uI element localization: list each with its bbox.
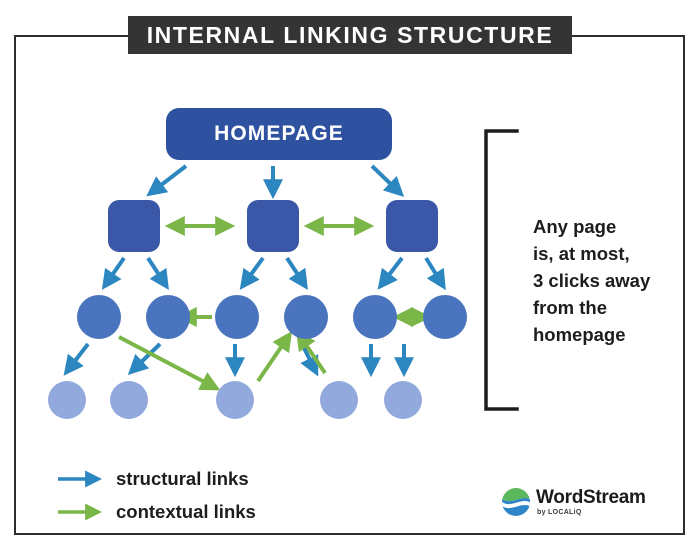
structural-links-level1 xyxy=(152,166,399,192)
arrow-right-icon xyxy=(56,503,104,521)
wordstream-tagline: by LOCALiQ xyxy=(537,509,582,516)
node-homepage[interactable]: HOMEPAGE xyxy=(166,108,392,160)
annotation-text: Any page is, at most, 3 clicks away from… xyxy=(533,213,673,348)
node-level4-3[interactable] xyxy=(216,381,254,419)
node-level2-1[interactable] xyxy=(108,200,160,252)
legend-label-contextual: contextual links xyxy=(116,501,256,523)
node-level2-2[interactable] xyxy=(247,200,299,252)
node-homepage-label: HOMEPAGE xyxy=(214,122,344,146)
node-level4-5[interactable] xyxy=(384,381,422,419)
wordstream-name: WordStream xyxy=(536,488,646,507)
structural-links-level3 xyxy=(68,344,404,370)
node-level3-1[interactable] xyxy=(77,295,121,339)
wordstream-logo[interactable]: WordStream by LOCALiQ xyxy=(501,487,646,517)
infographic-canvas: INTERNAL LINKING STRUCTURE xyxy=(0,0,700,552)
legend-label-structural: structural links xyxy=(116,468,249,490)
node-level4-2[interactable] xyxy=(110,381,148,419)
node-level4-1[interactable] xyxy=(48,381,86,419)
wordstream-logo-icon xyxy=(501,487,531,517)
arrow-right-icon xyxy=(56,470,104,488)
structural-links-level2 xyxy=(106,258,442,284)
legend-item-contextual: contextual links xyxy=(56,495,356,528)
node-level3-5[interactable] xyxy=(353,295,397,339)
legend-item-structural: structural links xyxy=(56,462,356,495)
scope-bracket xyxy=(486,131,517,409)
node-level3-6[interactable] xyxy=(423,295,467,339)
node-level4-4[interactable] xyxy=(320,381,358,419)
node-level3-3[interactable] xyxy=(215,295,259,339)
node-level3-2[interactable] xyxy=(146,295,190,339)
wordstream-logo-text: WordStream by LOCALiQ xyxy=(536,488,646,516)
legend: structural links contextual links xyxy=(56,462,356,528)
node-level2-3[interactable] xyxy=(386,200,438,252)
node-level3-4[interactable] xyxy=(284,295,328,339)
